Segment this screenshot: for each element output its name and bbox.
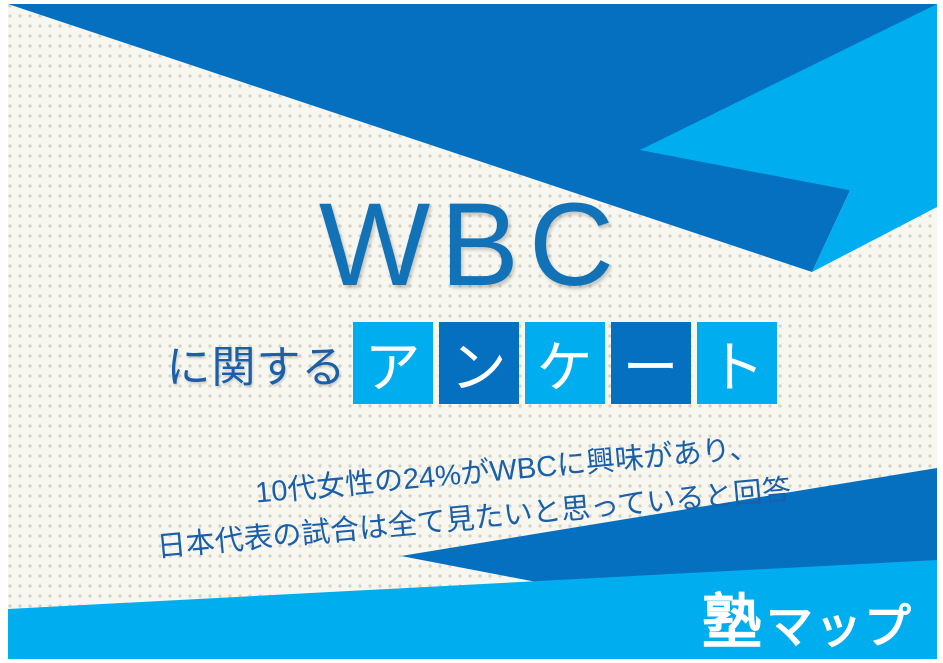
subtitle-prefix: に関する — [167, 331, 347, 395]
katakana-box-3: ケ — [525, 322, 605, 404]
katakana-box-4: ー — [611, 322, 691, 404]
logo-kanji-text: 塾 — [702, 593, 762, 653]
katakana-box-5: ト — [697, 322, 777, 404]
katakana-box-2: ン — [439, 322, 519, 404]
page-title: WBC — [0, 186, 943, 304]
brand-logo: 塾 マップ — [702, 593, 913, 653]
katakana-box-row: ア ン ケ ー ト — [353, 322, 777, 404]
katakana-box-1: ア — [353, 322, 433, 404]
subtitle-row: に関する ア ン ケ ー ト — [0, 322, 943, 404]
logo-kana-text: マップ — [766, 603, 913, 650]
poster-canvas: WBC に関する ア ン ケ ー ト 10代女性の24%がWBCに興味があり、 … — [0, 0, 943, 663]
